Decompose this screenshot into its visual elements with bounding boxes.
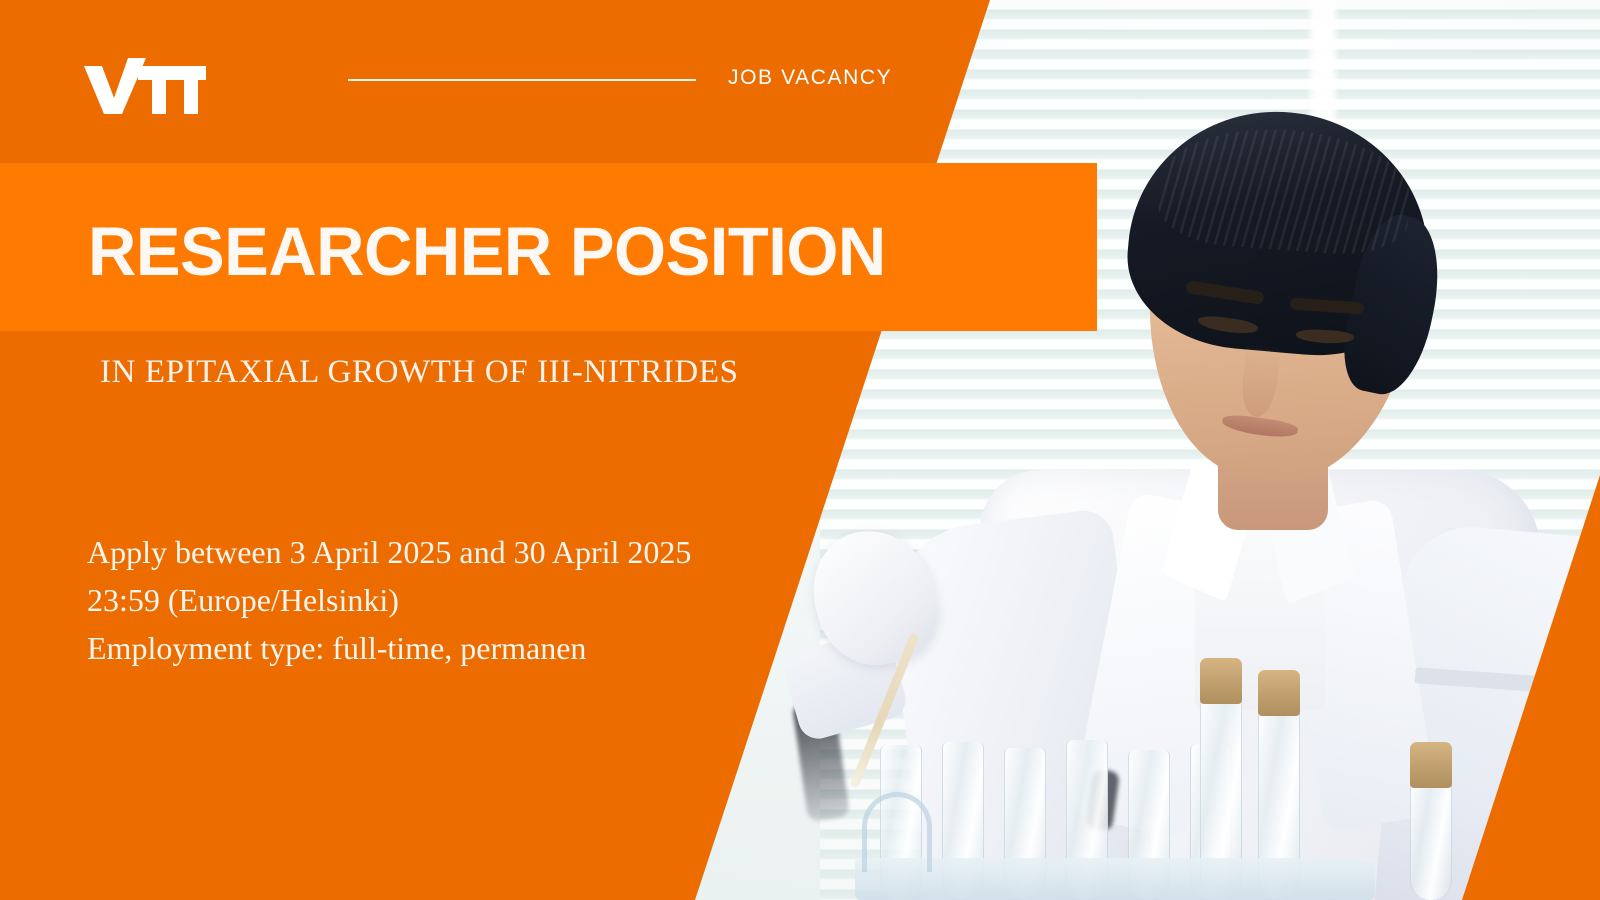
- deadline-time-text: 23:59 (Europe/Helsinki): [87, 576, 827, 624]
- test-tube-rack: [855, 858, 1375, 900]
- test-tube-corked: [1410, 775, 1452, 900]
- subtitle-line-1: IN EPITAXIAL GROWTH OF: [100, 354, 528, 390]
- vacancy-details: Apply between 3 April 2025 and 30 April …: [87, 528, 827, 672]
- page-subtitle: IN EPITAXIAL GROWTH OF III-NITRIDES: [100, 336, 860, 408]
- header-divider: [348, 79, 696, 81]
- vtt-logo: [84, 58, 206, 114]
- cork-stopper: [1410, 742, 1452, 788]
- cork-stopper: [1258, 670, 1300, 716]
- test-tube-rack-handle: [862, 792, 932, 872]
- page-title: RESEARCHER POSITION: [88, 210, 1019, 294]
- job-vacancy-banner: JOB VACANCY RESEARCHER POSITION IN EPITA…: [0, 0, 1600, 900]
- apply-window-text: Apply between 3 April 2025 and 30 April …: [87, 528, 827, 576]
- cork-stopper: [1200, 658, 1242, 704]
- employment-type-text: Employment type: full-time, permanen: [87, 624, 827, 672]
- subtitle-line-2: III-NITRIDES: [537, 354, 738, 390]
- job-vacancy-label: JOB VACANCY: [728, 66, 892, 90]
- banner-header: JOB VACANCY: [0, 0, 1000, 163]
